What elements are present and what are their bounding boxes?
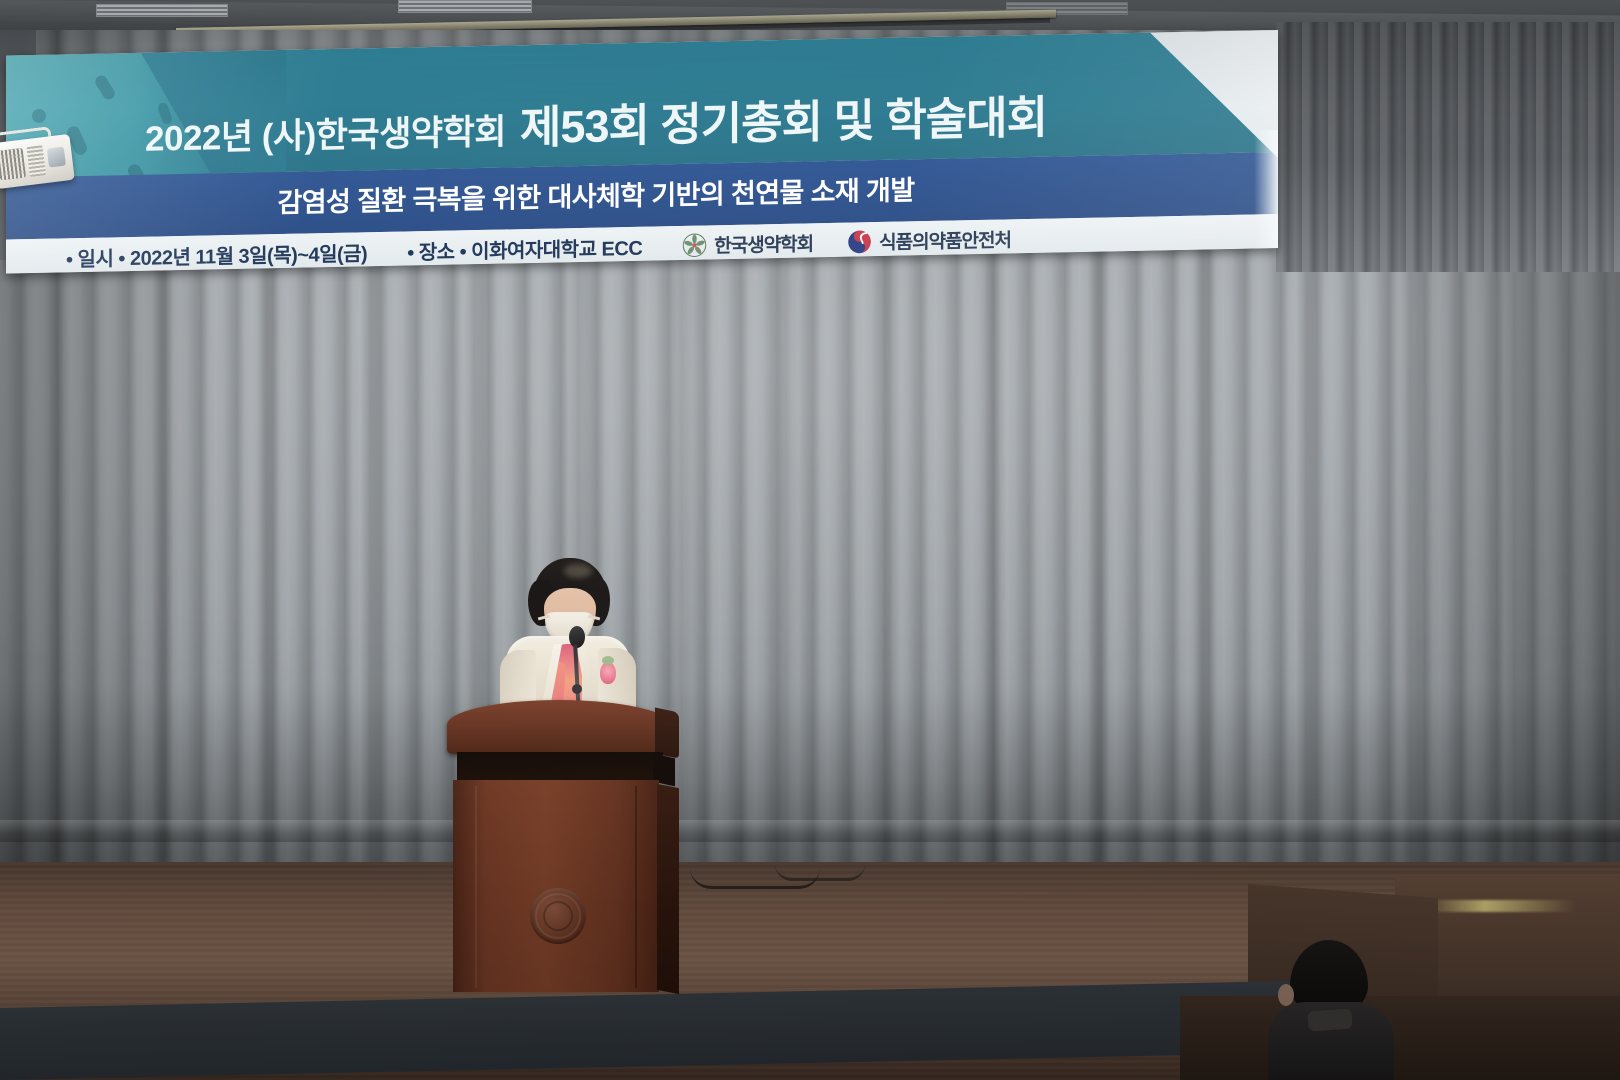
projector-grille: [0, 148, 26, 181]
banner-edge-highlight: [1254, 130, 1278, 253]
banner-title-main: 제53회 정기총회 및 학술대회: [520, 92, 1047, 154]
speaker-hair-highlight: [564, 564, 592, 578]
banner-place: • 장소 • 이화여자대학교 ECC: [407, 231, 642, 265]
podium-recess-shadow: [457, 752, 663, 782]
projector-lens: [47, 147, 66, 168]
curtain-shadow-right: [1276, 22, 1620, 272]
ceiling-vent-left: [96, 4, 228, 17]
ceiling-projector: [0, 123, 83, 195]
conference-photo: 2022년 (사)한국생약학회제53회 정기총회 및 학술대회 감염성 질환 극…: [0, 0, 1620, 1080]
podium-front-panel: [475, 786, 637, 988]
stage-apron-right: [1180, 996, 1620, 1080]
podium-crest-emblem: [530, 888, 586, 944]
audience-collar: [1307, 1008, 1352, 1031]
logo-label-mfds: 식품의약품안전처: [879, 225, 1011, 255]
speaker-podium: [447, 700, 679, 992]
banner-date: • 일시 • 2022년 11월 3일(목)~4일(금): [66, 237, 367, 272]
curtain-hem: [0, 820, 1620, 842]
podium-desktop: [447, 700, 671, 754]
speaker-corsage: [600, 662, 616, 684]
banner-title-prefix: 2022년 (사)한국생약학회: [145, 112, 506, 158]
floor-cable-secondary: [775, 864, 865, 881]
audience-ear: [1278, 984, 1294, 1006]
logo-ministry-of-food-and-drug-safety: 식품의약품안전처: [847, 225, 1011, 255]
conference-banner: 2022년 (사)한국생약학회제53회 정기총회 및 학술대회 감염성 질환 극…: [6, 30, 1278, 274]
taegeuk-icon: [847, 229, 872, 255]
ceiling-vent-mid: [398, 0, 532, 13]
logo-korean-society-of-pharmacognosy: 한국생약학회: [682, 229, 813, 259]
flower-emblem-icon: [682, 232, 707, 258]
podium-desktop-side: [655, 707, 679, 758]
podium-body-side: [657, 784, 679, 994]
logo-label-pharmacognosy: 한국생약학회: [714, 229, 813, 258]
microphone-joint: [572, 684, 582, 694]
audience-member-foreground: [1268, 940, 1394, 1080]
podium-body: [453, 780, 659, 992]
